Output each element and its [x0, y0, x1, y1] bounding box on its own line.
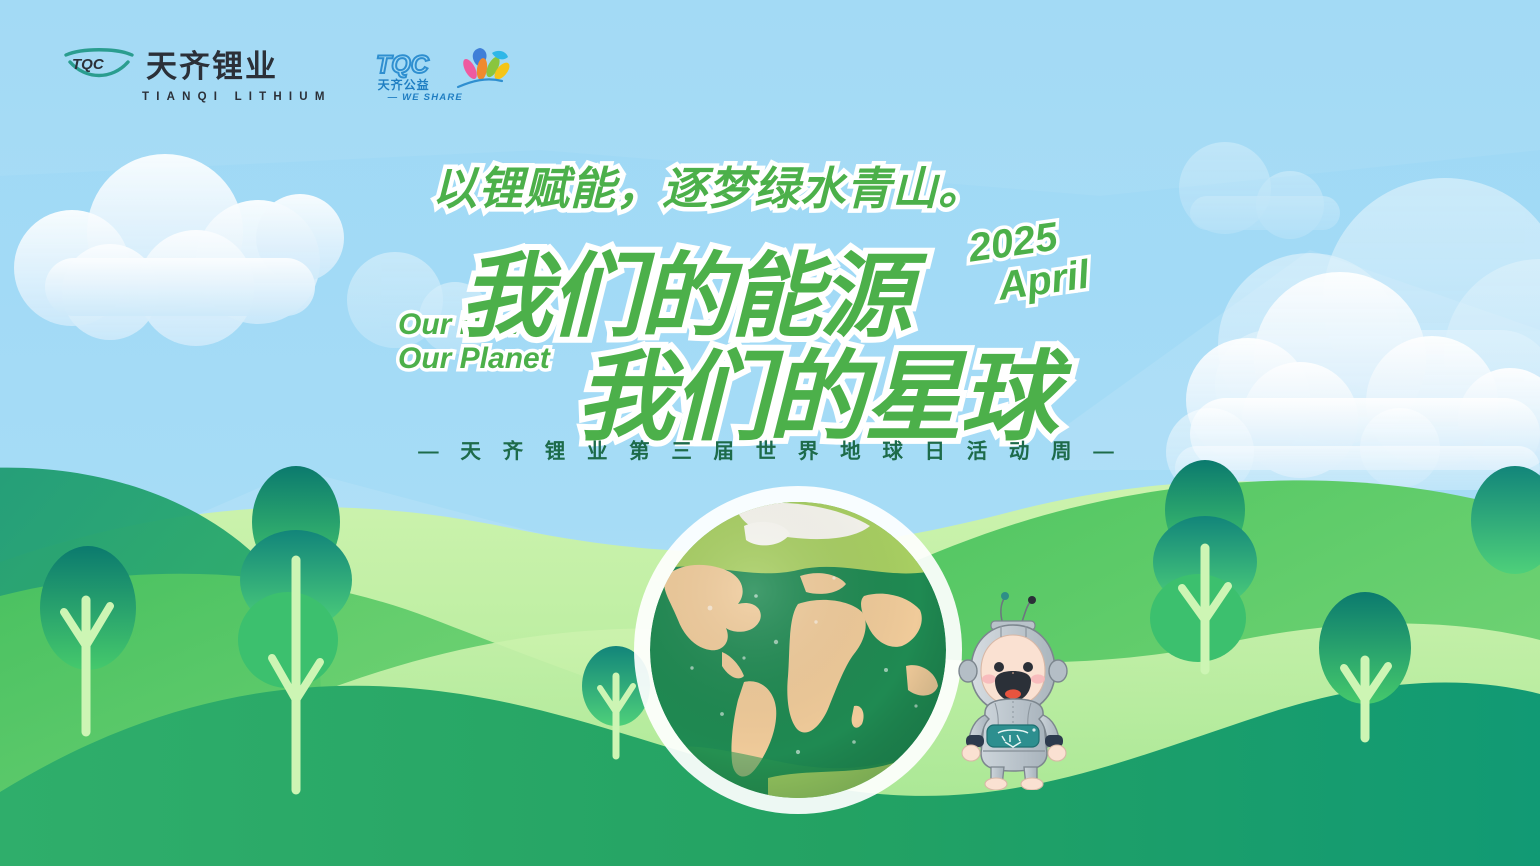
svg-text:TQC: TQC [72, 56, 105, 73]
charity-wordmark-en: — WE SHARE [388, 92, 463, 103]
charity-wordmark-cn: 天齐公益 [378, 76, 430, 93]
tqc-chest-badge [987, 725, 1039, 747]
event-subtitle: — 天 齐 锂 业 第 三 届 世 界 地 球 日 活 动 周 — [0, 434, 1540, 464]
earth-globe-svg [648, 500, 948, 800]
astronaut-mascot [955, 585, 1073, 790]
tongue [1005, 689, 1021, 698]
tianqi-lithium-logo[interactable]: TQC 天齐锂业 TIANQI LITHIUM [62, 46, 332, 103]
logo-bar: TQC 天齐锂业 TIANQI LITHIUM TQC [62, 46, 514, 103]
antenna-ball-left [1001, 592, 1009, 600]
event-date: 2025 April [966, 212, 1092, 312]
tianqi-wordmark-en: TIANQI LITHIUM [142, 91, 332, 103]
antenna-ball-right [1028, 596, 1036, 604]
tianqi-chevron-mark: TQC [62, 46, 136, 86]
event-banner: TQC 天齐锂业 TIANQI LITHIUM TQC [0, 0, 1540, 866]
blush-left [982, 674, 996, 683]
hand-left [962, 745, 980, 761]
eye-left [994, 662, 1004, 672]
foot-left [985, 778, 1007, 790]
tianqi-wordmark-cn: 天齐锂业 [146, 51, 278, 82]
eye-right [1023, 662, 1033, 672]
svg-text:TQC: TQC [376, 51, 430, 79]
tagline: 以锂赋能，逐梦绿水青山。 [432, 152, 984, 217]
blush-right [1031, 674, 1045, 683]
foot-right [1021, 778, 1043, 790]
earth-globe [648, 500, 948, 800]
hand-right [1048, 745, 1066, 761]
tianqi-charity-logo[interactable]: TQC 天齐公益 — WE SHARE [374, 47, 514, 103]
